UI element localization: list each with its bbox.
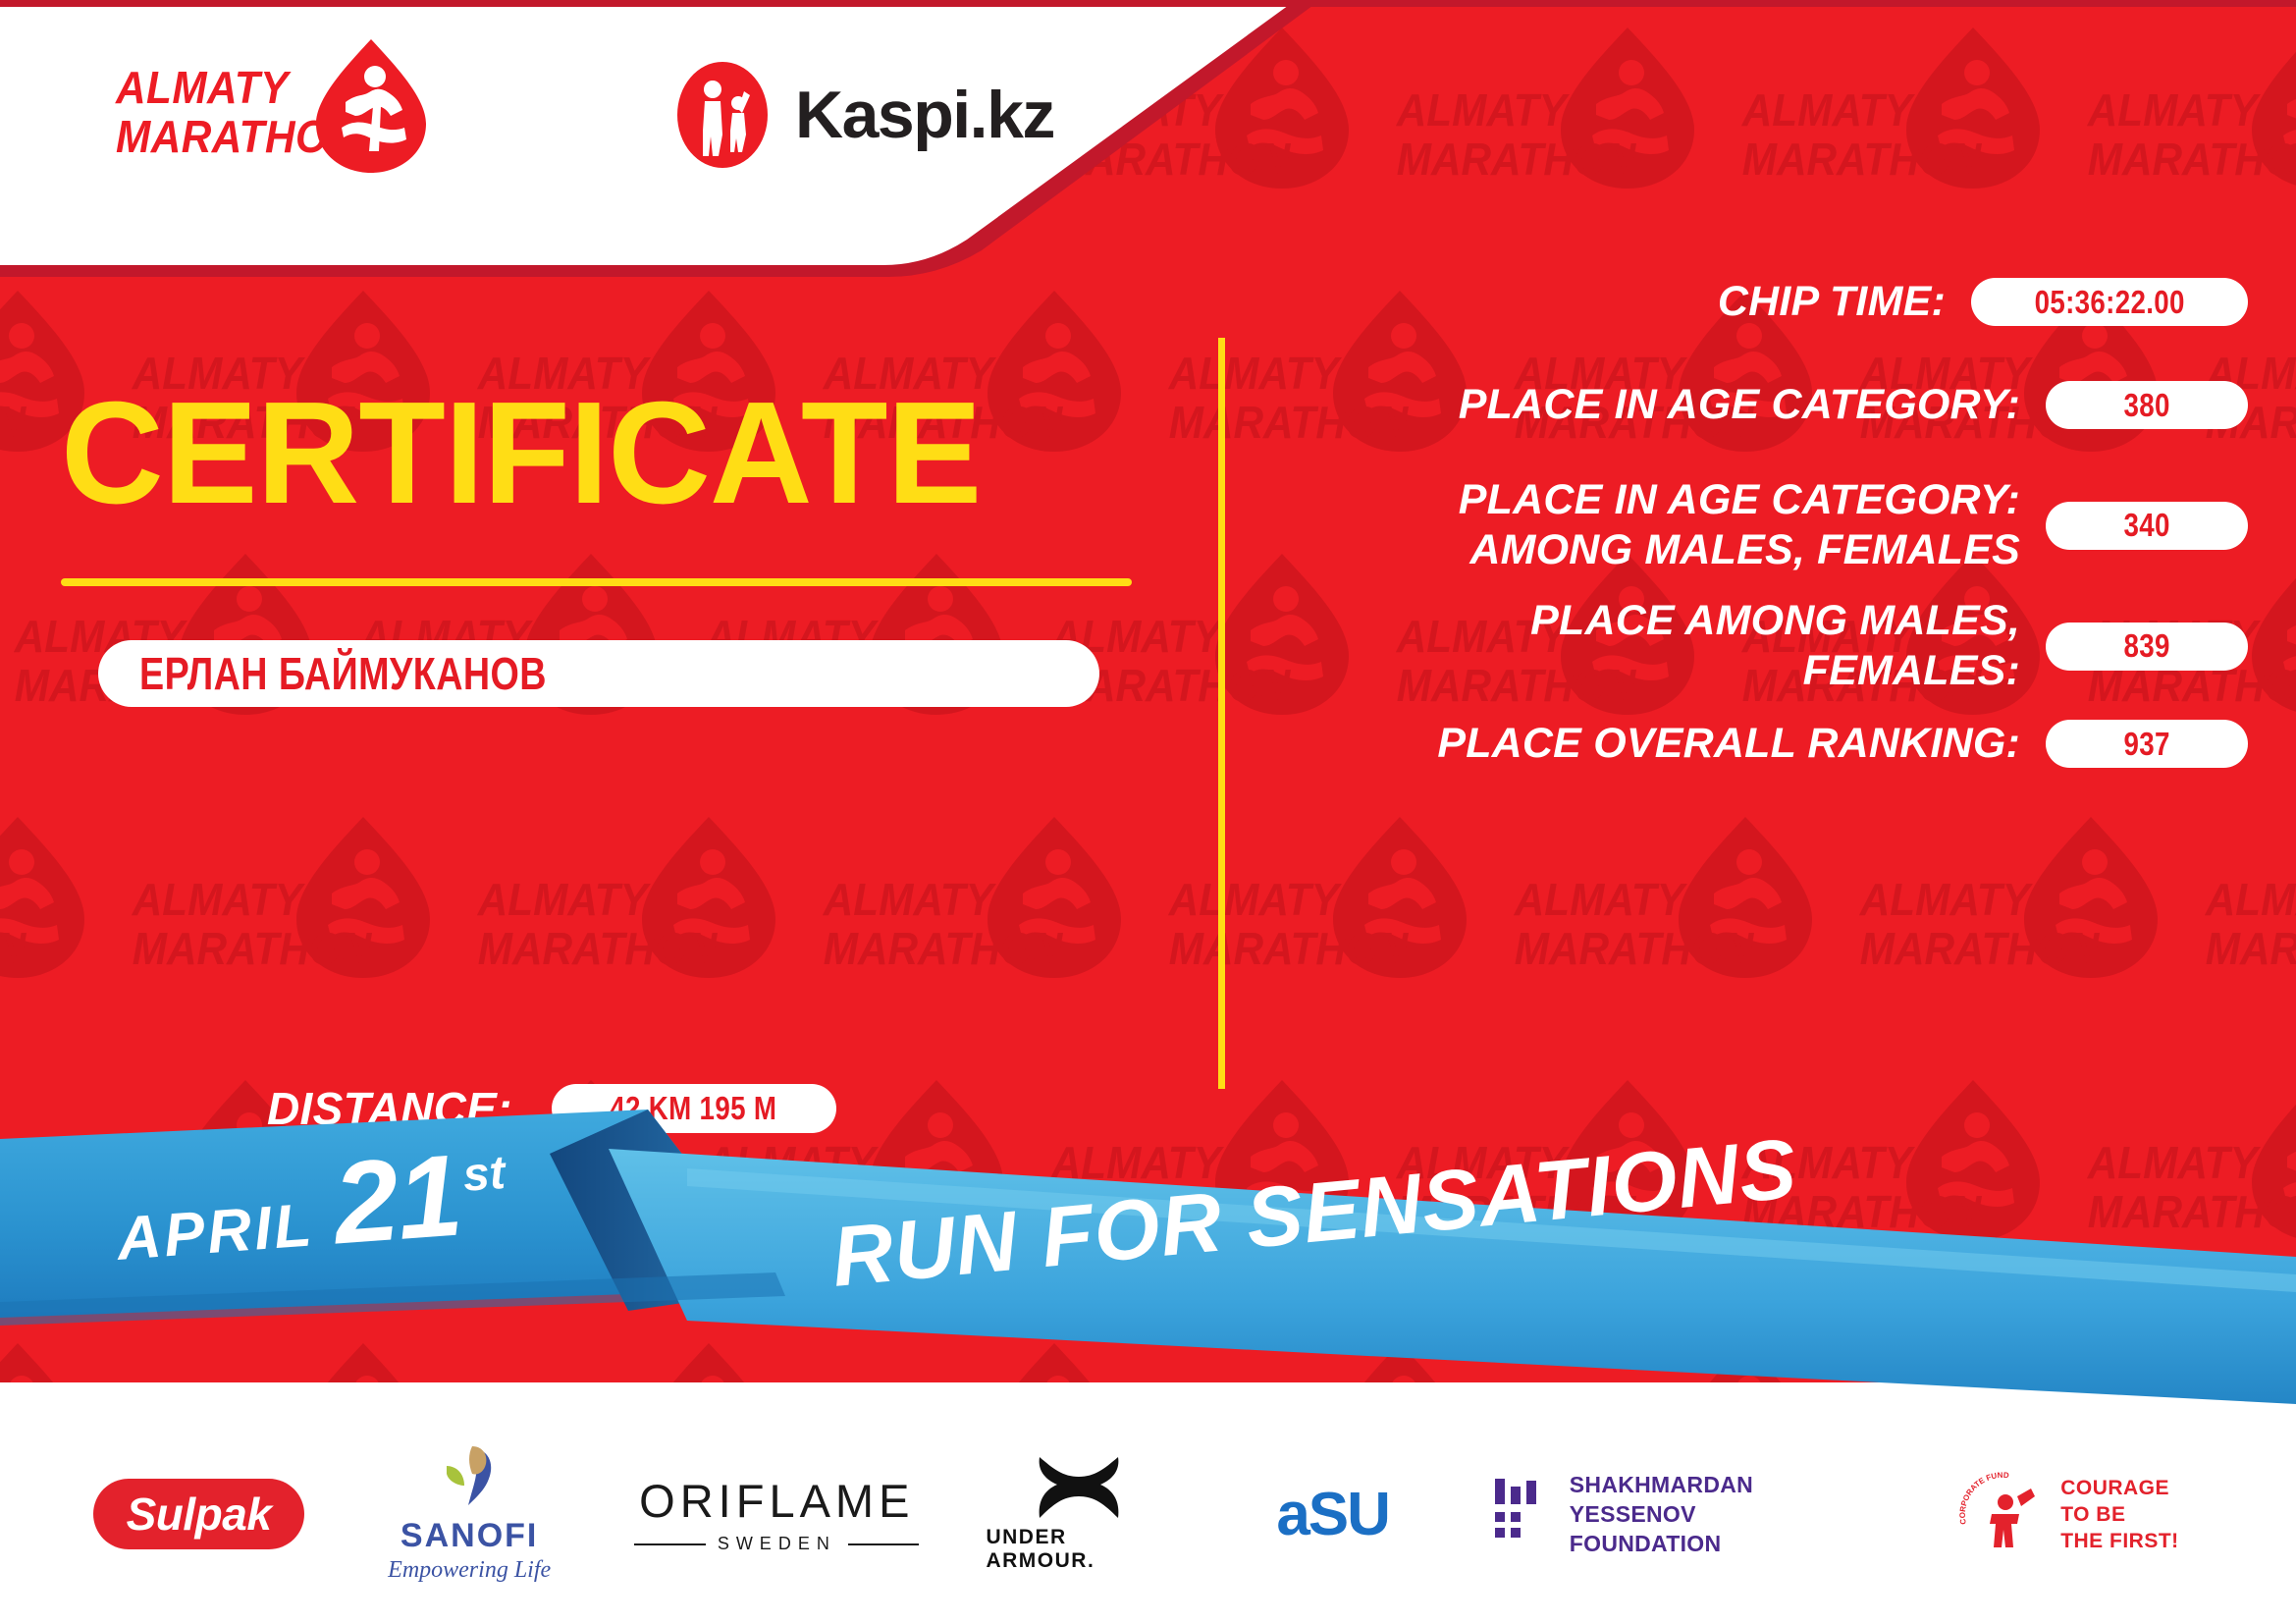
certificate-page: ALMATY MARATHON ALMATY MARATHON <box>0 0 2296 1624</box>
stat-label: PLACE OVERALL RANKING: <box>1266 719 2046 769</box>
watermark-tile: ALMATY MARATHON <box>1500 789 1845 1053</box>
stat-label: PLACE AMONG MALES,FEMALES: <box>1266 596 2046 696</box>
svg-text:MARATHON: MARATHON <box>133 924 373 974</box>
svg-text:ALMATY: ALMATY <box>823 875 996 925</box>
event-date: APRIL 21 st <box>111 1125 511 1287</box>
stat-row: PLACE IN AGE CATEGORY: 380 <box>1266 380 2248 430</box>
watermark-tile: ALMATY MARATHON <box>118 789 463 1053</box>
oriflame-text: ORIFLAME <box>639 1474 914 1528</box>
event-month: APRIL <box>115 1190 317 1274</box>
kaspi-logo-text: Kaspi.kz <box>795 77 1054 153</box>
svg-text:ALMATY: ALMATY <box>1741 85 1915 135</box>
sponsor-logo-sanofi: SANOFI Empowering Life <box>371 1444 567 1584</box>
runner-drop-icon <box>312 37 430 175</box>
under-armour-text: UNDER ARMOUR. <box>986 1526 1172 1573</box>
svg-text:MARATHON: MARATHON <box>1515 924 1755 974</box>
yessenov-line2: FOUNDATION <box>1570 1529 1866 1558</box>
svg-text:ALMATY: ALMATY <box>1859 875 2033 925</box>
stat-row: PLACE OVERALL RANKING: 937 <box>1266 719 2248 769</box>
participant-name: ЕРЛАН БАЙМУКАНОВ <box>139 647 547 700</box>
stat-row: PLACE AMONG MALES,FEMALES: 839 <box>1266 596 2248 696</box>
watermark-tile: ALMATY MARATHON <box>2073 0 2296 263</box>
asu-text: aSU <box>1276 1480 1389 1549</box>
event-day-ordinal: st <box>461 1146 507 1203</box>
yessenov-line1: SHAKHMARDAN YESSENOV <box>1570 1470 1866 1529</box>
sponsor-logo-sulpak: Sulpak <box>93 1479 304 1549</box>
event-day: 21 <box>329 1128 465 1271</box>
sponsor-logo-courage-fund: CORPORATE FUND COURAGE TO BE THE FIRST! <box>1933 1469 2203 1559</box>
sanofi-mark-icon <box>435 1444 504 1515</box>
participant-name-field: ЕРЛАН БАЙМУКАНОВ <box>98 640 1099 707</box>
sponsor-logo-oriflame: ORIFLAME SWEDEN <box>634 1474 919 1554</box>
sponsor-logo-yessenov-foundation: SHAKHMARDAN YESSENOV FOUNDATION <box>1493 1470 1866 1558</box>
stat-value: 937 <box>2123 726 2169 763</box>
svg-text:ALMATY: ALMATY <box>1396 85 1570 135</box>
stat-value: 340 <box>2123 507 2169 544</box>
certificate-title: CERTIFICATE <box>61 380 981 527</box>
watermark-tile: ALMATY MARATHON <box>1728 0 2073 263</box>
svg-text:ALMATY: ALMATY <box>477 875 651 925</box>
watermark-tile: ALMATY MARATHON <box>1382 0 1728 263</box>
svg-text:MARATHON: MARATHON <box>1397 135 1637 185</box>
oriflame-sub: SWEDEN <box>718 1534 836 1554</box>
sponsor-logo-asu: aSU <box>1240 1480 1426 1549</box>
yessenov-bars-icon <box>1493 1479 1550 1549</box>
watermark-tile: ALMATY MARATHON <box>1845 789 2191 1053</box>
stat-value-pill: 380 <box>2046 381 2248 429</box>
stat-label: PLACE IN AGE CATEGORY:AMONG MALES, FEMAL… <box>1266 475 2046 575</box>
svg-text:MARATHON: MARATHON <box>2088 135 2296 185</box>
under-armour-mark-icon <box>1024 1455 1134 1520</box>
svg-text:MARATHON: MARATHON <box>1742 135 1983 185</box>
svg-text:MARATHON: MARATHON <box>1169 924 1410 974</box>
watermark-tile: ALMATY MARATHON <box>809 789 1154 1053</box>
svg-text:ALMATY: ALMATY <box>2205 875 2296 925</box>
svg-text:MARATHON: MARATHON <box>0 398 27 448</box>
stat-value: 05:36:22.00 <box>2034 284 2184 321</box>
stat-value-pill: 340 <box>2046 502 2248 550</box>
svg-text:MARATHON: MARATHON <box>2206 924 2296 974</box>
sanofi-tagline: Empowering Life <box>388 1557 551 1584</box>
kaspi-logo: Kaspi.kz <box>677 61 1054 169</box>
svg-text:MARATHON: MARATHON <box>824 924 1064 974</box>
svg-text:ALMATY: ALMATY <box>132 875 305 925</box>
stat-row: PLACE IN AGE CATEGORY:AMONG MALES, FEMAL… <box>1266 475 2248 575</box>
stat-value-pill: 937 <box>2046 720 2248 768</box>
stat-value: 839 <box>2123 627 2169 665</box>
courage-fund-icon: CORPORATE FUND <box>1956 1469 2047 1559</box>
svg-text:ALMATY: ALMATY <box>1514 875 1687 925</box>
top-red-rule <box>0 0 2296 7</box>
almaty-marathon-logo: ALMATY MARATHON <box>116 51 430 174</box>
courage-line1: COURAGE <box>2060 1475 2179 1501</box>
stat-value: 380 <box>2123 387 2169 424</box>
stat-value-pill: 05:36:22.00 <box>1971 278 2248 326</box>
stat-row: CHIP TIME: 05:36:22.00 <box>1266 277 2248 327</box>
stat-label: PLACE IN AGE CATEGORY: <box>1266 380 2046 430</box>
svg-text:MARATHON: MARATHON <box>478 924 719 974</box>
watermark-tile: ALMATY MARATHON <box>2191 789 2296 1053</box>
svg-text:ALMATY: ALMATY <box>1168 875 1342 925</box>
stat-value-pill: 839 <box>2046 623 2248 671</box>
courage-line2: TO BE <box>2060 1501 2179 1528</box>
watermark-tile: ALMATY MARATHON <box>463 789 809 1053</box>
sponsor-bar: Sulpak SANOFI Empowering Life ORIFLAME S… <box>0 1404 2296 1624</box>
watermark-tile: ALMATY MARATHON <box>1154 789 1500 1053</box>
sponsor-logo-under-armour: UNDER ARMOUR. <box>986 1455 1172 1573</box>
courage-line3: THE FIRST! <box>2060 1528 2179 1554</box>
svg-text:MARATHON: MARATHON <box>0 924 27 974</box>
sulpak-text: Sulpak <box>127 1488 272 1541</box>
watermark-tile: ALMATY MARATHON <box>0 789 118 1053</box>
title-underline <box>61 578 1132 586</box>
kaspi-figures-icon <box>677 62 768 168</box>
sanofi-text: SANOFI <box>400 1517 538 1555</box>
stat-label: CHIP TIME: <box>1266 277 1971 327</box>
vertical-divider <box>1218 338 1225 1089</box>
svg-text:MARATHON: MARATHON <box>1860 924 2101 974</box>
svg-text:ALMATY: ALMATY <box>2087 85 2261 135</box>
